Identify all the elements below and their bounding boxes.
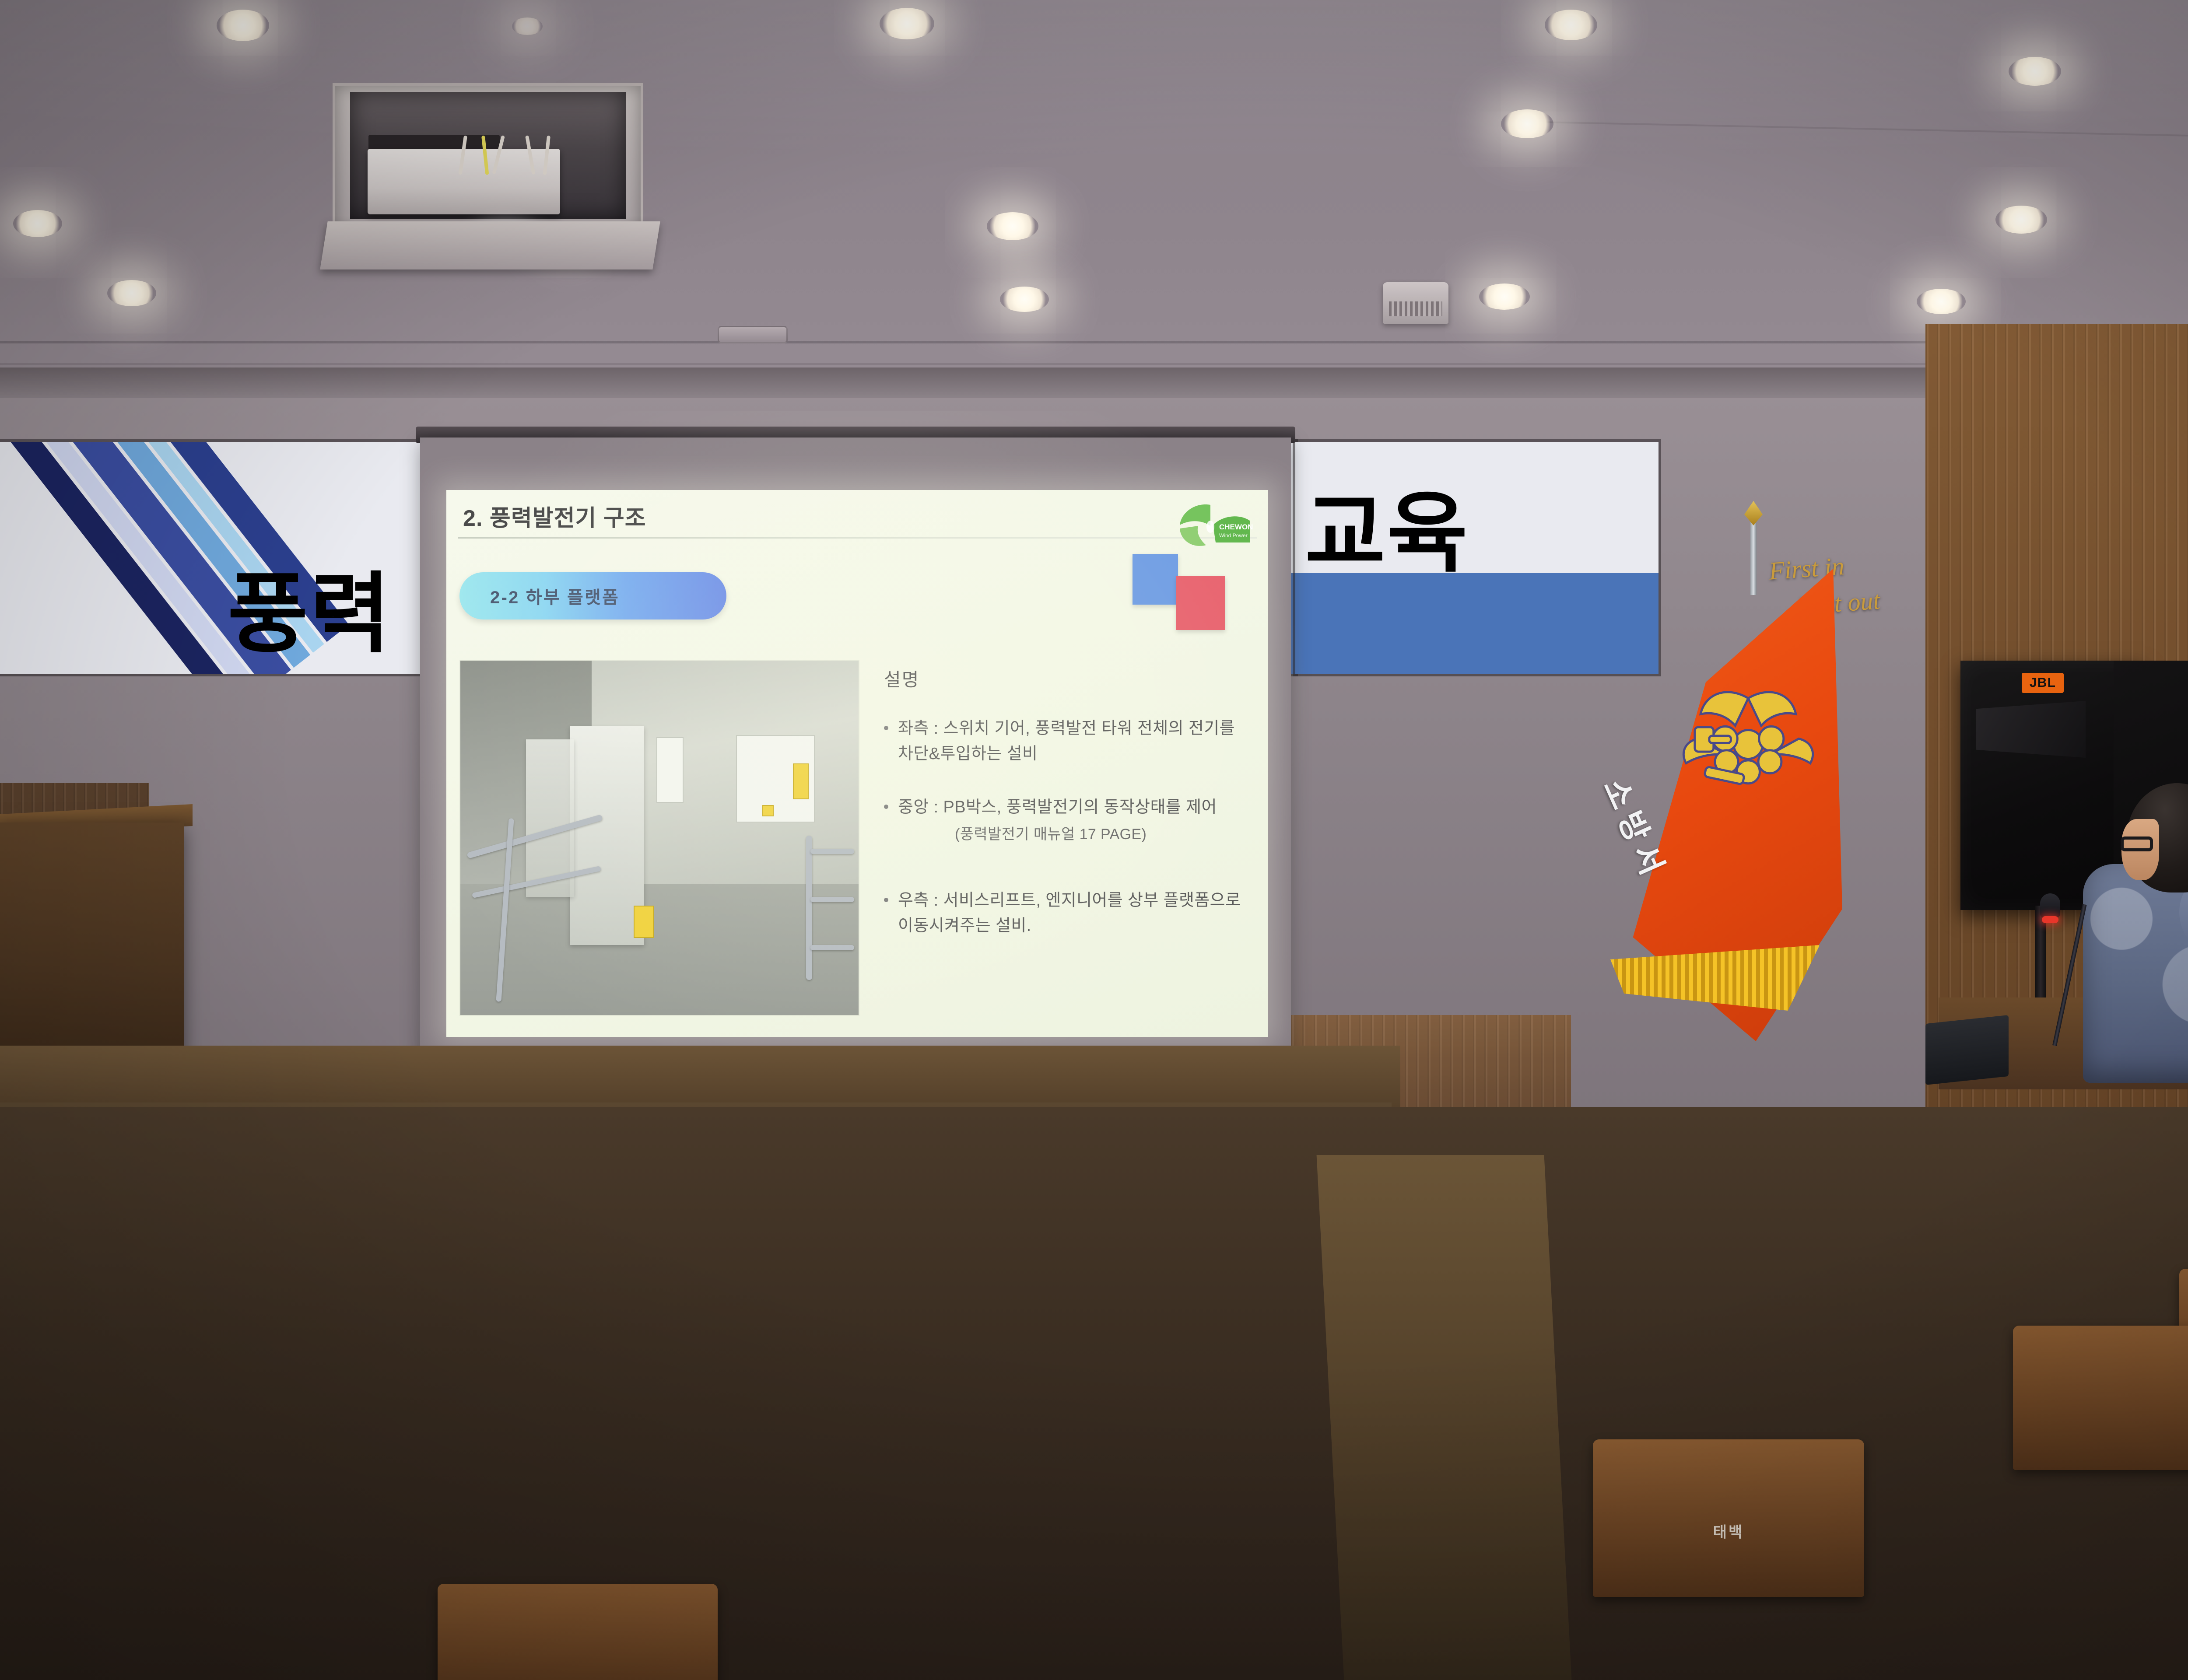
- ceiling-downlight: [1501, 109, 1553, 138]
- ceiling-downlight: [1995, 206, 2047, 234]
- chair-label: 태백: [1713, 1520, 1744, 1541]
- slide-title: 2. 풍력발전기 구조: [463, 500, 646, 532]
- stage-platform-edge: [0, 1046, 1400, 1107]
- microphone-head: [2040, 893, 2060, 918]
- presenter-glasses-icon: [2121, 836, 2153, 851]
- bullet-text-3: 우측 : 서비스리프트, 엔지니어를 상부 플랫폼으로 이동시켜주는 설비.: [898, 888, 1252, 939]
- slide-explanation-block: 설명 좌측 : 스위치 기어, 풍력발전 타워 전체의 전기를 차단&투입하는 …: [884, 665, 1252, 966]
- slide-photo-lower-platform: [460, 661, 859, 1015]
- photo-yellow-label: [793, 763, 809, 799]
- ceiling-downlight: [1000, 287, 1049, 312]
- ceiling-vent: [718, 326, 788, 343]
- svg-text:Wind Power: Wind Power: [1219, 532, 1248, 539]
- photo-lift-rung: [810, 849, 854, 854]
- chewon-wind-power-logo-icon: CHEWON Wind Power: [1170, 500, 1253, 552]
- slide-section-label: 2-2 하부 플랫폼: [490, 583, 620, 609]
- photo-switchgear-cabinet: [570, 726, 644, 945]
- bullet-dot-icon: [884, 805, 888, 809]
- lectern: [0, 822, 184, 1067]
- ceiling-downlight: [512, 17, 543, 35]
- fire-eagle-emblem-icon: [1676, 669, 1820, 814]
- ceiling-downlight: [987, 212, 1038, 240]
- explanation-bullet: 우측 : 서비스리프트, 엔지니어를 상부 플랫폼으로 이동시켜주는 설비.: [884, 888, 1252, 939]
- explanation-heading: 설명: [884, 665, 1252, 692]
- banner-left: 풍력: [0, 442, 438, 674]
- auditorium-seat-labelled[interactable]: 태백: [1593, 1439, 1864, 1597]
- projector-cables: [464, 136, 578, 179]
- explanation-bullet: 좌측 : 스위치 기어, 풍력발전 타워 전체의 전기를 차단&투입하는 설비: [884, 716, 1252, 767]
- presentation-slide: 2. 풍력발전기 구조 CHEWON Wind Power 2-2 하부 플랫폼: [446, 490, 1268, 1037]
- projector-lift-door: [320, 221, 660, 269]
- ceiling-downlight: [13, 210, 62, 237]
- ceiling-seam-2: [0, 363, 1969, 365]
- ceiling-downlight: [1545, 10, 1597, 40]
- explanation-bullet: 중앙 : PB박스, 풍력발전기의 동작상태를 제어 (풍력발전기 매뉴얼 17…: [884, 795, 1252, 846]
- microphone-led-indicator: [2042, 916, 2058, 923]
- photo-wall-panel-small: [656, 737, 684, 803]
- slide-decoration-square-blue: [1133, 554, 1178, 605]
- photo-service-lift-frame: [806, 836, 812, 980]
- banner-left-text: 풍력: [228, 542, 392, 669]
- bullet-text-2-note: (풍력발전기 매뉴얼 17 PAGE): [955, 823, 1217, 846]
- ceiling-downlight: [880, 8, 934, 39]
- banner-right: 교육: [1295, 442, 1659, 674]
- ceiling-projector-housing: [333, 83, 643, 267]
- auditorium-seat[interactable]: [2013, 1326, 2188, 1470]
- banner-right-text: 교육: [1305, 462, 1469, 589]
- ceiling-downlight: [217, 10, 269, 41]
- ceiling-downlight: [2009, 57, 2061, 86]
- slide-title-rule: [458, 537, 1257, 539]
- lecture-hall-scene: 풍력 교육 First in Last out: [0, 0, 2188, 1680]
- photo-lift-rung: [810, 945, 854, 950]
- ceiling-light-falloff: [0, 0, 2188, 385]
- slide-decoration-square-red: [1176, 576, 1225, 630]
- bullet-text-1: 좌측 : 스위치 기어, 풍력발전 타워 전체의 전기를 차단&투입하는 설비: [898, 716, 1252, 767]
- svg-text:CHEWON: CHEWON: [1219, 523, 1253, 531]
- photo-yellow-button: [762, 805, 774, 816]
- photo-lift-rung: [810, 897, 854, 902]
- bullet-text-2-main: 중앙 : PB박스, 풍력발전기의 동작상태를 제어: [898, 798, 1217, 816]
- speaker-horn: [1976, 701, 2086, 758]
- bullet-dot-icon: [884, 898, 888, 902]
- presenter-laptop[interactable]: [1925, 1015, 2009, 1085]
- ceiling-downlight: [107, 280, 156, 306]
- bullet-dot-icon: [884, 726, 888, 730]
- auditorium-seat[interactable]: [438, 1584, 718, 1680]
- bullet-text-2: 중앙 : PB박스, 풍력발전기의 동작상태를 제어 (풍력발전기 매뉴얼 17…: [898, 795, 1217, 846]
- photo-floor: [460, 884, 859, 1015]
- smoke-detector-icon: [1383, 282, 1448, 324]
- presenter-torso: [2083, 864, 2188, 1083]
- ceiling-downlight: [1917, 289, 1966, 314]
- jbl-logo: JBL: [2022, 673, 2064, 693]
- slide-section-bar: 2-2 하부 플랫폼: [459, 572, 726, 619]
- center-aisle: [1317, 1155, 1572, 1680]
- wall-soffit: [0, 367, 2188, 398]
- flag-pole: [1750, 516, 1757, 595]
- ceiling-seam: [0, 341, 2188, 343]
- photo-warning-sticker: [634, 906, 654, 938]
- ceiling-downlight: [1479, 283, 1530, 310]
